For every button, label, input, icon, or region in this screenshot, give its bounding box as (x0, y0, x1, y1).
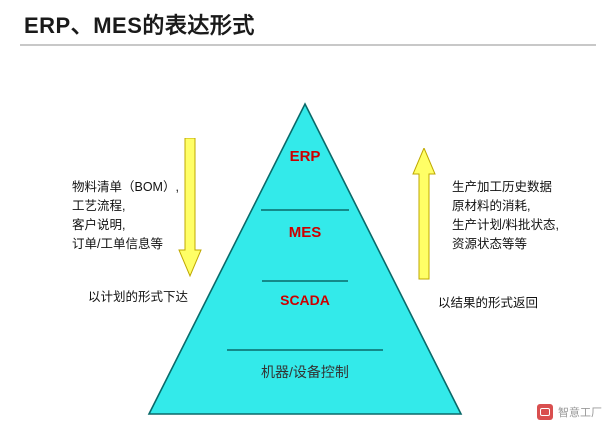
title-divider (20, 44, 596, 46)
right-caption: 以结果的形式返回 (438, 292, 538, 311)
pyramid-layer-label-erp: ERP (145, 148, 465, 165)
left-line-2: 工艺流程, (72, 197, 179, 216)
pyramid-diagram: ERP MES SCADA 机器/设备控制 (145, 100, 465, 418)
left-description-text: 物料清单（BOM）, 工艺流程, 客户说明, 订单/工单信息等 (72, 178, 179, 254)
left-line-3: 客户说明, (72, 216, 179, 235)
right-line-1: 生产加工历史数据 (452, 178, 559, 197)
slide-canvas: ERP、MES的表达形式 ERP MES SCAD (0, 0, 616, 432)
watermark-text: 智意工厂 (558, 404, 602, 420)
left-caption: 以计划的形式下达 (88, 286, 188, 305)
watermark: 智意工厂 (537, 404, 602, 420)
title-bar: ERP、MES的表达形式 (0, 0, 616, 48)
right-line-4: 资源状态等等 (452, 235, 559, 254)
pyramid-layer-label-machine: 机器/设备控制 (145, 362, 465, 382)
left-line-1: 物料清单（BOM）, (72, 178, 179, 197)
pyramid-layer-label-scada: SCADA (145, 292, 465, 308)
wechat-badge-icon (537, 404, 553, 420)
pyramid-layer-label-mes: MES (145, 224, 465, 241)
right-line-2: 原材料的消耗, (452, 197, 559, 216)
page-title: ERP、MES的表达形式 (24, 8, 255, 40)
right-description-text: 生产加工历史数据 原材料的消耗, 生产计划/料批状态, 资源状态等等 (452, 178, 559, 254)
right-line-3: 生产计划/料批状态, (452, 216, 559, 235)
left-line-4: 订单/工单信息等 (72, 235, 179, 254)
